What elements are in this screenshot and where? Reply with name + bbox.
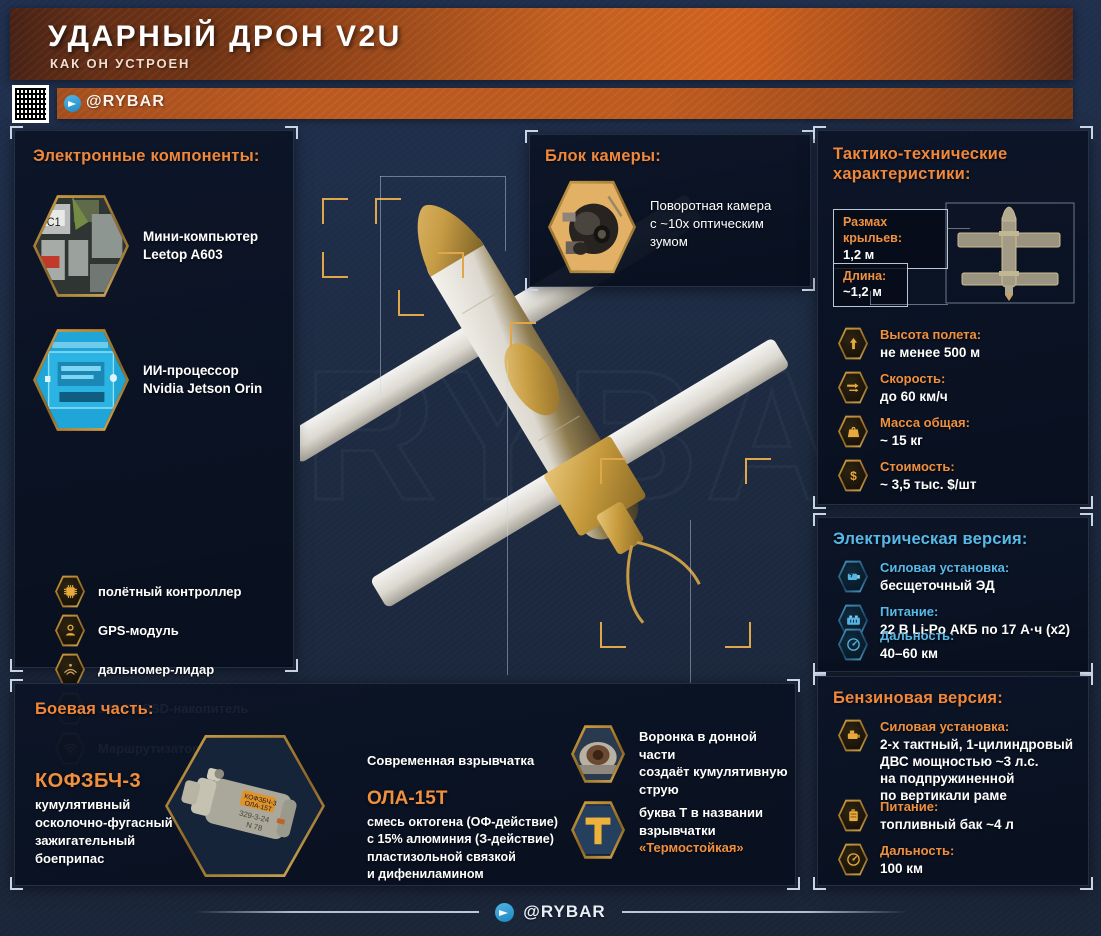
spec-value: 40–60 км: [880, 645, 954, 662]
hud-bracket: [375, 198, 401, 224]
wingspan-callout: Размах крыльев: 1,2 м: [833, 209, 948, 269]
speed-arrows-glyph: [845, 379, 862, 396]
electronics-panel: Электронные компоненты:: [14, 130, 294, 668]
spec-key: Дальность:: [880, 628, 954, 645]
up-arrow-icon: [838, 327, 868, 360]
spec-key: Стоимость:: [880, 459, 976, 476]
gimbal-camera-photo: [548, 179, 636, 275]
dollar-glyph: $: [845, 467, 862, 484]
funnel-glyph: [574, 727, 622, 781]
spec-speed: Скорость: до 60 км/ч: [838, 371, 948, 405]
spec-altitude: Высота полета: не менее 500 м: [838, 327, 981, 361]
hud-bracket: [398, 290, 424, 316]
dimension-line: [870, 291, 871, 305]
spec-key: Силовая установка:: [880, 560, 1009, 577]
electric-motor-glyph: [845, 568, 862, 585]
ttx-panel: Тактико-техническиехарактеристики: Разма…: [817, 130, 1089, 505]
spec-value: ~ 3,5 тыс. $/шт: [880, 476, 976, 493]
component-flight-controller: полётный контроллер: [55, 575, 241, 608]
explosive-description: смесь октогена (ОФ-действие) с 15% алюми…: [367, 814, 558, 884]
hud-bracket: [510, 322, 536, 348]
channel-banner: [57, 88, 1073, 119]
mini-computer-image: C1: [36, 196, 126, 296]
weight-glyph: [845, 423, 862, 440]
length-key: Длина:: [843, 268, 898, 284]
warhead-note-funnel: Воронка в донной части создаёт кумулятив…: [571, 724, 795, 798]
range-gauge-icon: [838, 628, 868, 661]
spec-key: Питание:: [880, 799, 1014, 816]
spec-key: Дальность:: [880, 843, 954, 860]
lidar-waves-glyph: [62, 661, 79, 678]
footer: @RYBAR: [0, 902, 1101, 922]
spec-value: не менее 500 м: [880, 344, 981, 361]
spec-value: до 60 км/ч: [880, 388, 948, 405]
spec-value: бесщеточный ЭД: [880, 577, 1009, 594]
warhead-bomb-photo: КОФЗБЧ-3 ОЛА-15Т 329-3-24 N 78: [165, 732, 325, 880]
hud-bracket: [600, 458, 626, 484]
footer-channel: @RYBAR: [523, 902, 605, 922]
component-gps-module: GPS-модуль: [55, 614, 179, 647]
letter-t-glyph: [574, 803, 622, 857]
warhead-description: кумулятивный осколочно-фугасный зажигате…: [35, 796, 173, 868]
speed-arrows-icon: [838, 371, 868, 404]
mini-computer-label: Мини-компьютер Leetop A603: [143, 228, 258, 264]
spec-mass: Масса общая: ~ 15 кг: [838, 415, 970, 449]
warhead-panel-title: Боевая часть:: [35, 700, 154, 720]
footer-rule-right: [622, 911, 907, 913]
hud-line: [690, 520, 691, 690]
explosive-lead: Современная взрывчатка: [367, 752, 534, 770]
ai-processor-photo: [33, 327, 129, 433]
component-ai-processor: ИИ-процессор Nvidia Jetson Orin: [33, 327, 262, 433]
gps-pin-glyph: [62, 622, 79, 639]
battery-glyph: [845, 612, 862, 629]
channel-handle: @RYBAR: [86, 93, 165, 111]
hud-line: [505, 176, 506, 251]
petrol-spec-power: Питание: топливный бак ~4 л: [838, 799, 1014, 833]
camera-panel-title: Блок камеры:: [545, 147, 661, 167]
warhead-name: КОФЗБЧ-3: [35, 770, 141, 793]
telegram-icon: [495, 903, 514, 922]
warhead-note-letter-t: буква Т в названии взрывчатки «Термостой…: [571, 800, 763, 860]
range-gauge-glyph: [845, 636, 862, 653]
range-gauge-glyph: [845, 851, 862, 868]
range-gauge-icon: [838, 843, 868, 876]
component-lidar: дальномер-лидар: [55, 653, 214, 686]
warhead-panel: Боевая часть: КОФЗБЧ-3 кумулятивный оско…: [14, 683, 796, 886]
wingspan-value: 1,2 м: [843, 247, 938, 264]
component-label: дальномер-лидар: [98, 662, 214, 677]
fuel-can-icon: [838, 799, 868, 832]
spec-value: топливный бак ~4 л: [880, 816, 1014, 833]
spec-value: 100 км: [880, 860, 954, 877]
combustion-engine-glyph: [845, 727, 862, 744]
warhead-note-accent: «Термостойкая»: [639, 840, 744, 855]
component-label: полётный контроллер: [98, 584, 241, 599]
dollar-icon: $: [838, 459, 868, 492]
hud-bracket: [322, 198, 348, 224]
petrol-spec-powerplant: Силовая установка: 2-х тактный, 1-цилинд…: [838, 719, 1073, 805]
ai-processor-label: ИИ-процессор Nvidia Jetson Orin: [143, 362, 262, 398]
wingspan-key: Размах крыльев:: [843, 214, 938, 247]
hud-line: [380, 176, 381, 394]
electric-spec-range: Дальность: 40–60 км: [838, 628, 954, 662]
explosive-name: ОЛА-15Т: [367, 788, 447, 810]
chip-icon: [55, 575, 85, 608]
spec-key: Питание:: [880, 604, 1070, 621]
lidar-waves-icon: [55, 653, 85, 686]
petrol-spec-range: Дальность: 100 км: [838, 843, 954, 877]
camera-panel: Блок камеры: Поворотная камера с ~10x оп: [529, 134, 811, 287]
spec-key: Масса общая:: [880, 415, 970, 432]
drone-top-view-silhouette: [944, 201, 1076, 305]
qr-code-icon[interactable]: [12, 85, 49, 123]
infographic-canvas: @RYBAR УДАРНЫЙ ДРОН V2U КАК ОН УСТРОЕН @…: [0, 0, 1101, 936]
electronics-panel-title: Электронные компоненты:: [33, 147, 260, 167]
warhead-bomb-image: КОФЗБЧ-3 ОЛА-15Т 329-3-24 N 78: [168, 735, 322, 877]
dimension-line: [948, 228, 970, 229]
page-title: УДАРНЫЙ ДРОН V2U: [48, 20, 402, 54]
electric-version-title: Электрическая версия:: [833, 530, 1028, 550]
warhead-note-text: Воронка в донной части создаёт кумулятив…: [639, 724, 795, 798]
ttx-panel-title: Тактико-техническиехарактеристики:: [833, 145, 1007, 185]
hud-line: [380, 176, 505, 177]
warhead-note-text: буква Т в названии взрывчатки «Термостой…: [639, 800, 763, 857]
chip-glyph: [62, 583, 79, 600]
petrol-version-title: Бензиновая версия:: [833, 689, 1003, 709]
component-label: GPS-модуль: [98, 623, 179, 638]
hud-bracket: [745, 458, 771, 484]
electric-motor-icon: [838, 560, 868, 593]
gimbal-camera-image: [551, 182, 633, 272]
svg-text:$: $: [850, 469, 857, 483]
component-mini-computer: C1 Мини-компьютер Leetop A603: [33, 193, 258, 299]
petrol-version-panel: Бензиновая версия: Силовая установка: 2-…: [817, 676, 1089, 886]
camera-description: Поворотная камера с ~10x оптическим зумо…: [650, 197, 771, 252]
up-arrow-glyph: [845, 335, 862, 352]
weight-icon: [838, 415, 868, 448]
spec-value: ~ 15 кг: [880, 432, 970, 449]
hud-bracket: [725, 622, 751, 648]
hud-line: [507, 360, 508, 675]
telegram-icon: [64, 95, 81, 112]
spec-value: 2-х тактный, 1-цилиндровый ДВС мощностью…: [880, 736, 1073, 805]
shaped-charge-funnel-icon: [571, 724, 625, 784]
spec-cost: $ Стоимость: ~ 3,5 тыс. $/шт: [838, 459, 976, 493]
electric-version-panel: Электрическая версия: Силовая установка:…: [817, 517, 1089, 672]
mini-computer-photo: C1: [33, 193, 129, 299]
hud-bracket: [438, 252, 464, 278]
letter-t-icon: [571, 800, 625, 860]
spec-key: Силовая установка:: [880, 719, 1073, 736]
dimension-line: [870, 304, 948, 305]
hud-bracket: [600, 622, 626, 648]
hud-bracket: [322, 252, 348, 278]
electric-spec-powerplant: Силовая установка: бесщеточный ЭД: [838, 560, 1009, 594]
spec-key: Высота полета:: [880, 327, 981, 344]
page-subtitle: КАК ОН УСТРОЕН: [50, 56, 190, 71]
svg-text:C1: C1: [47, 217, 61, 230]
ai-processor-image: [36, 330, 126, 430]
drone-silhouette-svg: [944, 201, 1076, 305]
footer-rule-left: [194, 911, 479, 913]
spec-key: Скорость:: [880, 371, 948, 388]
combustion-engine-icon: [838, 719, 868, 752]
fuel-can-glyph: [845, 807, 862, 824]
gps-pin-icon: [55, 614, 85, 647]
